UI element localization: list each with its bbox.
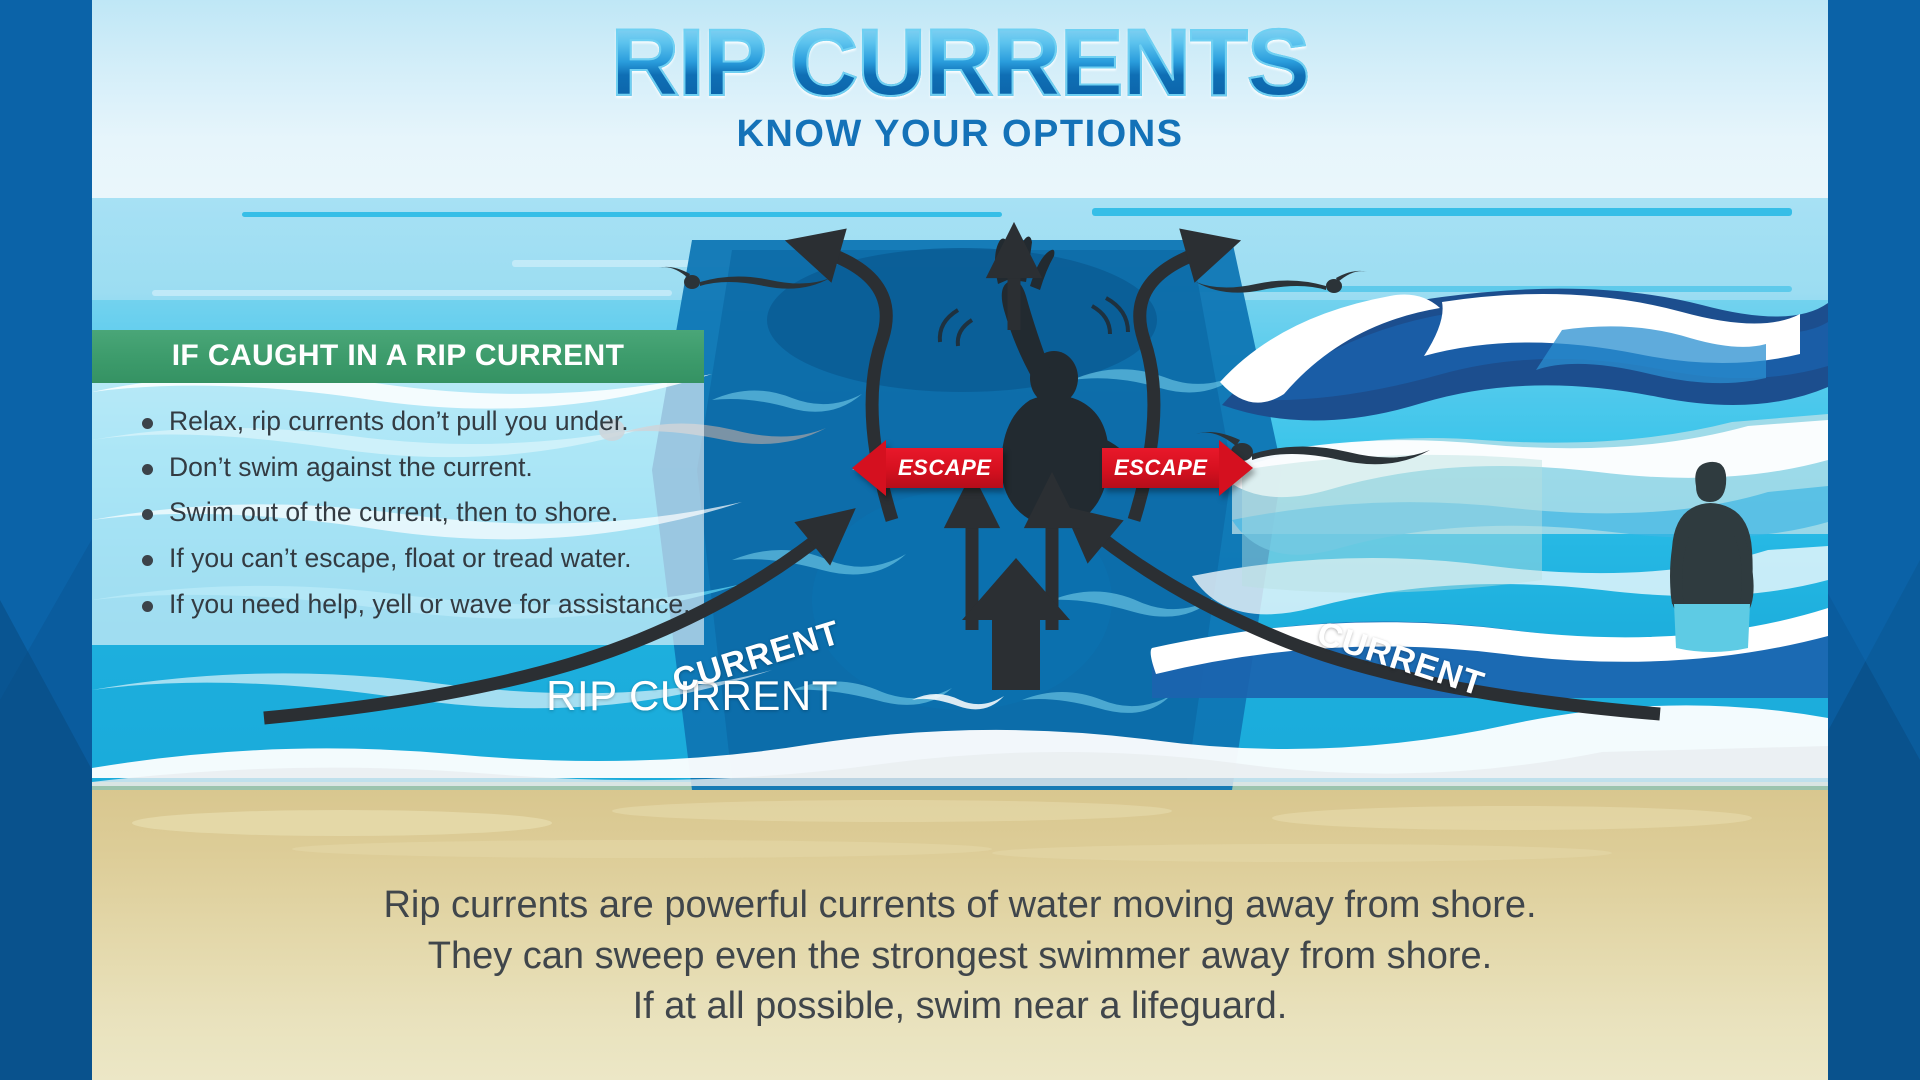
infobox-body: Relax, rip currents don’t pull you under… [92,383,704,645]
escape-arrow-body: ESCAPE [886,448,1003,488]
infobox-bullet-list: Relax, rip currents don’t pull you under… [92,399,704,627]
artwork-stage: IF CAUGHT IN A RIP CURRENT Relax, rip cu… [92,0,1828,1080]
bullet-text: Relax, rip currents don’t pull you under… [169,407,629,437]
escape-arrow-body: ESCAPE [1102,448,1219,488]
bullet-text: If you need help, yell or wave for assis… [169,590,690,620]
bullet-icon [142,418,153,429]
page-subtitle: KNOW YOUR OPTIONS [92,113,1828,156]
title-block: RIP CURRENTS KNOW YOUR OPTIONS [92,16,1828,156]
rip-current-infographic: IF CAUGHT IN A RIP CURRENT Relax, rip cu… [0,0,1920,1080]
escape-label: ESCAPE [1102,455,1219,481]
list-item: Don’t swim against the current. [92,445,704,491]
list-item: If you can’t escape, float or tread wate… [92,536,704,582]
infobox-heading: IF CAUGHT IN A RIP CURRENT [92,330,704,383]
escape-arrow-left: ESCAPE [852,440,1003,496]
list-item: Relax, rip currents don’t pull you under… [92,399,704,445]
arrow-head-right-icon [1219,440,1253,496]
if-caught-infobox: IF CAUGHT IN A RIP CURRENT Relax, rip cu… [92,330,704,645]
bullet-text: Swim out of the current, then to shore. [169,498,618,528]
arrow-head-left-icon [852,440,886,496]
bullet-icon [142,601,153,612]
bullet-icon [142,464,153,475]
bullet-icon [142,555,153,566]
caption-line-3: If at all possible, swim near a lifeguar… [92,981,1828,1032]
list-item: If you need help, yell or wave for assis… [92,582,704,628]
caption-line-2: They can sweep even the strongest swimme… [92,931,1828,982]
page-title: RIP CURRENTS [611,16,1310,111]
caption-block: Rip currents are powerful currents of wa… [92,880,1828,1032]
escape-label: ESCAPE [886,455,1003,481]
bullet-text: Don’t swim against the current. [169,453,533,483]
bullet-icon [142,509,153,520]
caption-line-1: Rip currents are powerful currents of wa… [92,880,1828,931]
bullet-text: If you can’t escape, float or tread wate… [169,544,632,574]
list-item: Swim out of the current, then to shore. [92,490,704,536]
escape-arrow-right: ESCAPE [1102,440,1253,496]
